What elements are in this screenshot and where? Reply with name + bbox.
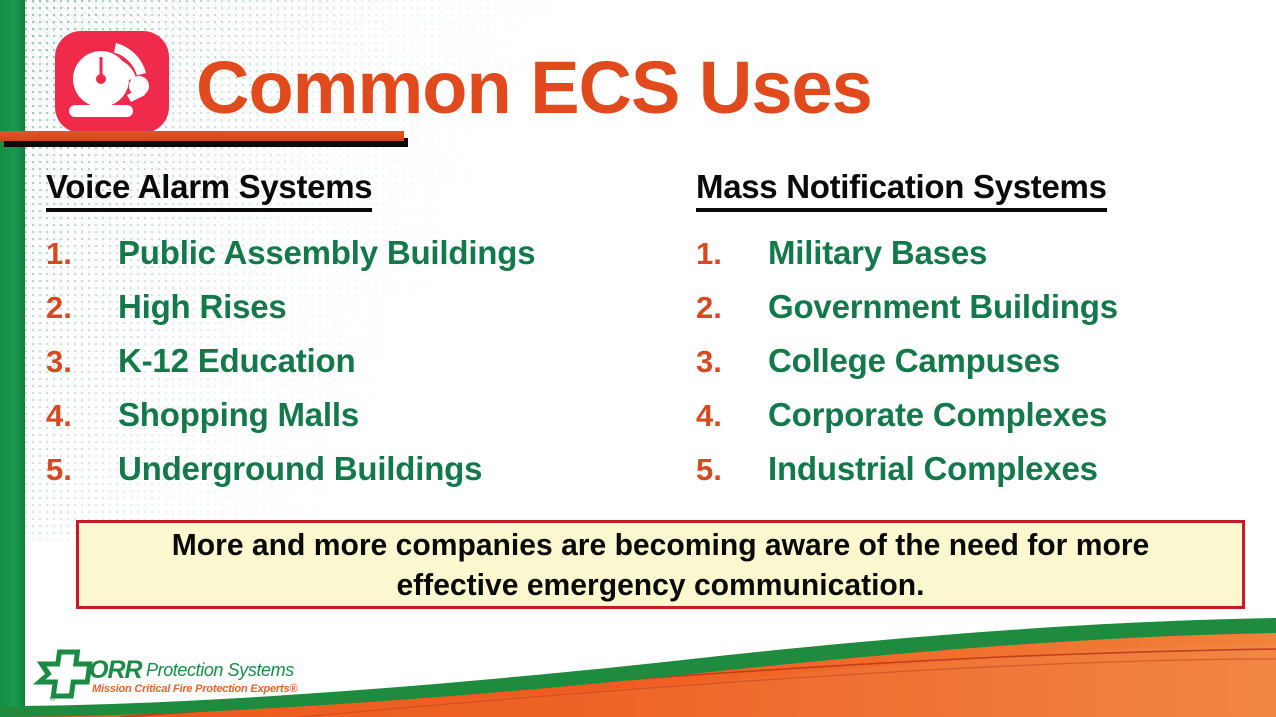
title-divider-rule bbox=[0, 131, 404, 141]
orr-protection-systems-logo: ORR Protection Systems Mission Critical … bbox=[26, 648, 276, 710]
list-item-label: Underground Buildings bbox=[118, 450, 482, 488]
list-item-label: College Campuses bbox=[768, 342, 1060, 380]
list-item-label: Government Buildings bbox=[768, 288, 1118, 326]
list-item: 3. College Campuses bbox=[696, 342, 1256, 396]
list-item: 2. Government Buildings bbox=[696, 288, 1256, 342]
list-item-label: Military Bases bbox=[768, 234, 987, 272]
list-item-number: 3. bbox=[696, 344, 768, 380]
slide-canvas: Common ECS Uses Voice Alarm Systems 1. P… bbox=[0, 0, 1276, 717]
list-item: 1. Public Assembly Buildings bbox=[46, 234, 676, 288]
list-item-number: 3. bbox=[46, 344, 118, 380]
list-item-number: 1. bbox=[696, 236, 768, 272]
list-item-number: 4. bbox=[46, 398, 118, 434]
alarm-bell-signal-icon bbox=[53, 29, 171, 135]
list-item: 1. Military Bases bbox=[696, 234, 1256, 288]
list-item: 5. Industrial Complexes bbox=[696, 450, 1256, 504]
orr-brand-text: ORR bbox=[89, 656, 142, 685]
column-heading-right: Mass Notification Systems bbox=[696, 168, 1107, 212]
list-item: 4. Shopping Malls bbox=[46, 396, 676, 450]
slide-title: Common ECS Uses bbox=[196, 44, 872, 132]
list-item-number: 4. bbox=[696, 398, 768, 434]
list-item-label: Industrial Complexes bbox=[768, 450, 1098, 488]
callout-box: More and more companies are becoming awa… bbox=[76, 520, 1245, 609]
list-item: 5. Underground Buildings bbox=[46, 450, 676, 504]
column-voice-alarm-systems: Voice Alarm Systems 1. Public Assembly B… bbox=[46, 168, 676, 504]
list-item-number: 1. bbox=[46, 236, 118, 272]
list-mass-notification-systems: 1. Military Bases 2. Government Building… bbox=[696, 234, 1256, 504]
list-item-number: 2. bbox=[46, 290, 118, 326]
list-item-label: High Rises bbox=[118, 288, 287, 326]
column-heading-left: Voice Alarm Systems bbox=[46, 168, 372, 212]
list-item: 3. K-12 Education bbox=[46, 342, 676, 396]
list-voice-alarm-systems: 1. Public Assembly Buildings 2. High Ris… bbox=[46, 234, 676, 504]
orr-brand-subtitle: Protection Systems bbox=[146, 660, 294, 681]
orr-tagline: Mission Critical Fire Protection Experts… bbox=[92, 683, 297, 695]
callout-text: More and more companies are becoming awa… bbox=[96, 525, 1224, 605]
list-item-label: K-12 Education bbox=[118, 342, 355, 380]
list-item-number: 5. bbox=[46, 452, 118, 488]
list-item-number: 2. bbox=[696, 290, 768, 326]
list-item-number: 5. bbox=[696, 452, 768, 488]
list-item: 2. High Rises bbox=[46, 288, 676, 342]
orr-registered-mark: ® bbox=[50, 696, 55, 703]
list-item-label: Shopping Malls bbox=[118, 396, 359, 434]
list-item-label: Corporate Complexes bbox=[768, 396, 1107, 434]
list-item-label: Public Assembly Buildings bbox=[118, 234, 535, 272]
list-item: 4. Corporate Complexes bbox=[696, 396, 1256, 450]
column-mass-notification-systems: Mass Notification Systems 1. Military Ba… bbox=[696, 168, 1256, 504]
